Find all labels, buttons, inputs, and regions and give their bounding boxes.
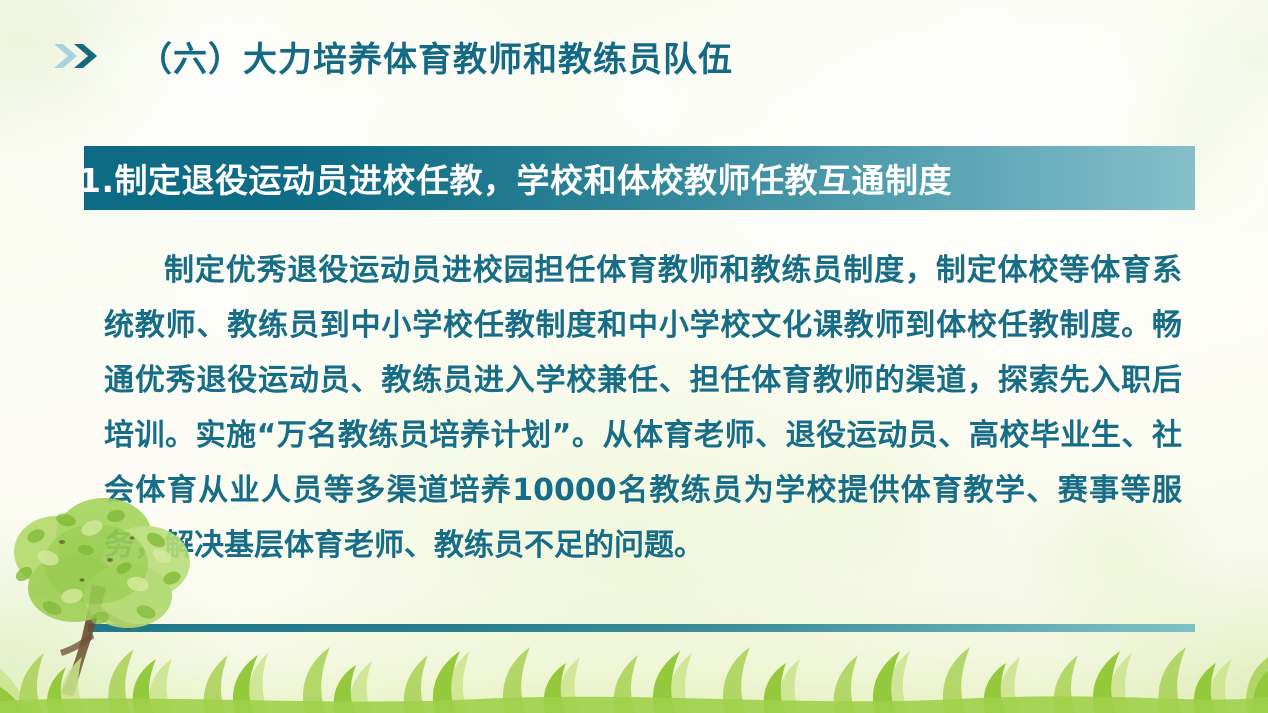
page-title: （六）大力培养体育教师和教练员队伍 — [138, 32, 733, 81]
grass-haze — [0, 593, 1268, 713]
section-heading: （六）大力培养体育教师和教练员队伍 — [52, 28, 733, 84]
section-banner-label: 1.制定退役运动员进校任教，学校和体校教师任教互通制度 — [84, 154, 952, 202]
double-chevron-right-icon — [52, 40, 108, 72]
body-paragraph: 制定优秀退役运动员进校园担任体育教师和教练员制度，制定体校等体育系统教师、教练员… — [104, 243, 1182, 573]
bottom-divider — [88, 624, 1195, 632]
slide-canvas: （六）大力培养体育教师和教练员队伍 1.制定退役运动员进校任教，学校和体校教师任… — [0, 0, 1268, 713]
section-banner: 1.制定退役运动员进校任教，学校和体校教师任教互通制度 — [84, 146, 1195, 210]
